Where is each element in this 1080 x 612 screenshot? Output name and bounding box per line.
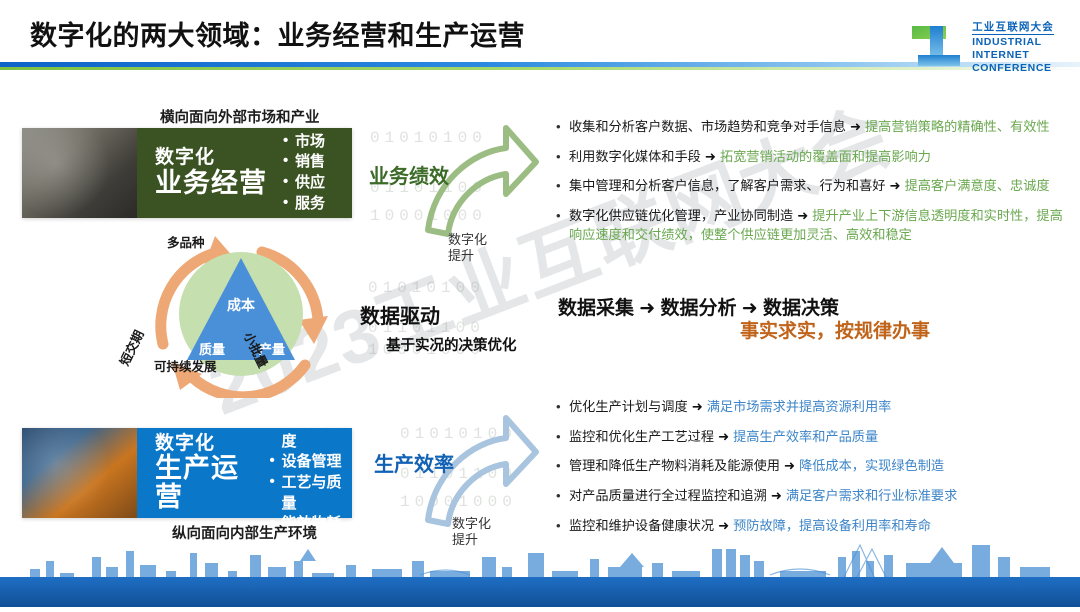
logo-chinese-name: 工业互联网大会 [972, 22, 1054, 35]
bullet-dot: • [556, 177, 569, 196]
bullet-text: 数字化供应链优化管理，产业协同制造➜提升产业上下游信息透明度和实时性，提高响应速… [569, 207, 1072, 244]
bullet-main: 管理和降低生产物料消耗及能源使用 [569, 458, 780, 473]
bullet-text: 集中管理和分析客户信息，了解客户需求、行为和喜好➜提高客户满意度、忠诚度 [569, 177, 1072, 196]
bullet-text: 收集和分析客户数据、市场趋势和竞争对手信息➜提高营销策略的精确性、有效性 [569, 118, 1072, 137]
business-arrow-label: 业务绩效 [369, 160, 449, 189]
city-skyline-decoration [0, 527, 1080, 607]
production-arrow-label: 生产效率 [374, 448, 454, 477]
bullet-main: 优化生产计划与调度 [569, 399, 688, 414]
business-arrow-sublabel: 数字化提升 [448, 232, 490, 265]
bullet-text: 利用数字化媒体和手段➜拓宽营销活动的覆盖面和提高影响力 [569, 148, 1072, 167]
arrow-glyph-icon: ➜ [846, 119, 865, 134]
bullet-row: • 监控和优化生产工艺过程➜提高生产效率和产品质量 [556, 428, 1072, 447]
bullet-result: 提高营销策略的精确性、有效性 [865, 119, 1050, 134]
production-heading: 数字化 生产运营 [155, 434, 253, 513]
arrow-glyph-icon: ➜ [688, 399, 707, 414]
page-title: 数字化的两大领域：业务经营和生产运营 [30, 14, 525, 53]
bullet-dot: • [556, 487, 569, 506]
bullet-row: • 优化生产计划与调度➜满足市场需求并提高资源利用率 [556, 398, 1072, 417]
arrow-glyph-icon: ➜ [886, 178, 905, 193]
bullet-dot: • [556, 148, 569, 167]
business-item-list: 市场 销售 供应 服务 [283, 132, 325, 215]
list-item: 计划与调度 [269, 411, 346, 452]
binary-decor-mid-1: 01010100 [368, 278, 485, 298]
circle-label-top: 多品种 [167, 232, 205, 251]
arrow-glyph-icon: ➜ [767, 488, 786, 503]
bullet-result: 提高生产效率和产品质量 [733, 429, 878, 444]
business-heading-small: 数字化 [155, 148, 267, 169]
logo-en-line2: INTERNET [972, 50, 1054, 61]
motto-text: 事实求实，按规律办事 [740, 316, 930, 343]
bullet-text: 优化生产计划与调度➜满足市场需求并提高资源利用率 [569, 398, 1072, 417]
bullet-row: • 管理和降低生产物料消耗及能源使用➜降低成本，实现绿色制造 [556, 457, 1072, 476]
bullet-dot: • [556, 207, 569, 244]
bullet-result: 降低成本，实现绿色制造 [799, 458, 944, 473]
conference-logo: 工业互联网大会 INDUSTRIAL INTERNET CONFERENCE [910, 18, 1054, 75]
arrow-glyph-icon: ➜ [714, 429, 733, 444]
bullet-text: 监控和优化生产工艺过程➜提高生产效率和产品质量 [569, 428, 1072, 447]
bullet-row: • 利用数字化媒体和手段➜拓宽营销活动的覆盖面和提高影响力 [556, 148, 1072, 167]
bullet-main: 对产品质量进行全过程监控和追溯 [569, 488, 767, 503]
production-bullets: • 优化生产计划与调度➜满足市场需求并提高资源利用率 • 监控和优化生产工艺过程… [556, 398, 1072, 547]
bullet-result: 拓宽营销活动的覆盖面和提高影响力 [720, 149, 931, 164]
list-item: 市场 [283, 132, 325, 153]
logo-text: 工业互联网大会 INDUSTRIAL INTERNET CONFERENCE [972, 18, 1054, 75]
arrow-glyph-icon: ➜ [780, 458, 799, 473]
list-item: 供应 [283, 173, 325, 194]
arrow-glyph-icon: ➜ [793, 208, 812, 223]
list-item: 服务 [283, 194, 325, 215]
business-bullets: • 收集和分析客户数据、市场趋势和竞争对手信息➜提高营销策略的精确性、有效性 •… [556, 118, 1072, 256]
bullet-dot: • [556, 118, 569, 137]
bullet-main: 收集和分析客户数据、市场趋势和竞争对手信息 [569, 119, 846, 134]
bullet-row: • 对产品质量进行全过程监控和追溯➜满足客户需求和行业标准要求 [556, 487, 1072, 506]
list-item: 工艺与质量 [269, 473, 346, 514]
logo-en-line3: CONFERENCE [972, 63, 1054, 74]
bullet-row: • 数字化供应链优化管理，产业协同制造➜提升产业上下游信息透明度和实时性，提高响… [556, 207, 1072, 244]
production-item-list: 计划与调度 设备管理 工艺与质量 能效物耗 [269, 411, 346, 535]
bullet-text: 管理和降低生产物料消耗及能源使用➜降低成本，实现绿色制造 [569, 457, 1072, 476]
data-driven-title: 数据驱动 [360, 300, 440, 329]
bullet-dot: • [556, 428, 569, 447]
bullet-text: 对产品质量进行全过程监控和追溯➜满足客户需求和行业标准要求 [569, 487, 1072, 506]
list-item: 设备管理 [269, 452, 346, 473]
bullet-main: 集中管理和分析客户信息，了解客户需求、行为和喜好 [569, 178, 886, 193]
arrow-glyph-icon: ➜ [701, 149, 720, 164]
production-photo [22, 428, 137, 518]
svg-text:质量: 质量 [199, 342, 225, 357]
bullet-main: 数字化供应链优化管理，产业协同制造 [569, 208, 793, 223]
logo-en-line1: INDUSTRIAL [972, 37, 1054, 48]
circle-label-bottom: 可持续发展 [154, 356, 217, 375]
bullet-dot: • [556, 457, 569, 476]
bullet-result: 满足客户需求和行业标准要求 [786, 488, 957, 503]
bullet-dot: • [556, 398, 569, 417]
list-item: 销售 [283, 152, 325, 173]
bullet-row: • 集中管理和分析客户信息，了解客户需求、行为和喜好➜提高客户满意度、忠诚度 [556, 177, 1072, 196]
bullet-row: • 收集和分析客户数据、市场趋势和竞争对手信息➜提高营销策略的精确性、有效性 [556, 118, 1072, 137]
business-heading: 数字化 业务经营 [155, 148, 267, 198]
logo-mark-icon [910, 22, 964, 70]
svg-text:成本: 成本 [227, 297, 256, 313]
production-heading-small: 数字化 [155, 434, 253, 455]
production-heading-large: 生产运营 [155, 454, 253, 512]
business-caption: 横向面向外部市场和产业 [160, 106, 320, 127]
production-card-body: 数字化 生产运营 计划与调度 设备管理 工艺与质量 能效物耗 [137, 428, 352, 518]
bullet-result: 提高客户满意度、忠诚度 [905, 178, 1050, 193]
bullet-main: 利用数字化媒体和手段 [569, 149, 701, 164]
business-photo [22, 128, 137, 218]
business-card-body: 数字化 业务经营 市场 销售 供应 服务 [137, 128, 352, 218]
bottom-blue-band [0, 577, 1080, 607]
bullet-main: 监控和优化生产工艺过程 [569, 429, 714, 444]
production-card: 数字化 生产运营 计划与调度 设备管理 工艺与质量 能效物耗 [22, 428, 352, 518]
bullet-result: 满足市场需求并提高资源利用率 [707, 399, 892, 414]
data-driven-subtitle: 基于实况的决策优化 [386, 334, 517, 355]
business-heading-large: 业务经营 [155, 169, 267, 198]
business-card: 数字化 业务经营 市场 销售 供应 服务 [22, 128, 352, 218]
